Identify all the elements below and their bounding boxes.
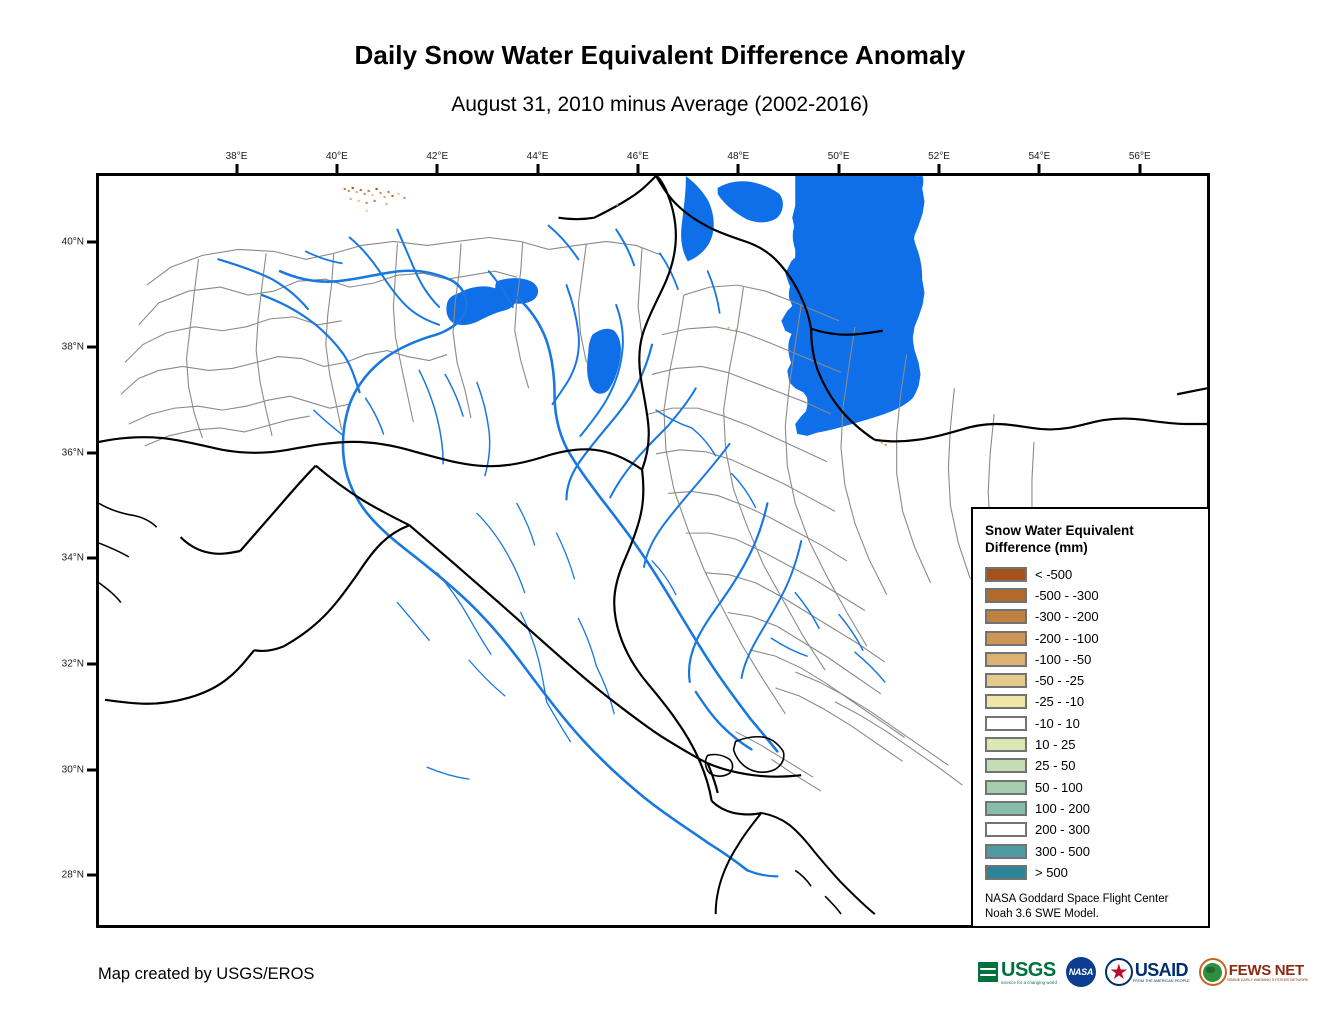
fews-globe-icon [1199, 958, 1227, 986]
legend-class-row: 200 - 300 [985, 819, 1198, 840]
legend-class-row: -50 - -25 [985, 670, 1198, 691]
longitude-tick [235, 164, 238, 173]
longitude-tick [1038, 164, 1041, 173]
longitude-label: 40°E [326, 151, 348, 162]
usgs-logo-tagline: science for a changing world [1001, 980, 1057, 985]
legend-class-row: -500 - -300 [985, 585, 1198, 606]
legend-class-label: 300 - 500 [1035, 844, 1090, 859]
usaid-seal-icon [1105, 958, 1133, 986]
longitude-tick [335, 164, 338, 173]
latitude-tick [87, 663, 96, 666]
legend-class-row: 300 - 500 [985, 840, 1198, 861]
nasa-logo[interactable]: NASA [1066, 956, 1096, 988]
longitude-label: 46°E [627, 151, 649, 162]
longitude-tick [1138, 164, 1141, 173]
longitude-label: 42°E [426, 151, 448, 162]
longitude-tick [636, 164, 639, 173]
legend-panel[interactable]: Snow Water Equivalent Difference (mm) < … [971, 507, 1210, 928]
fews-net-logo[interactable]: FEWS NET FAMINE EARLY WARNING SYSTEMS NE… [1199, 956, 1309, 988]
legend-class-label: -500 - -300 [1035, 588, 1099, 603]
coastlines [99, 503, 841, 914]
usgs-logo[interactable]: USGS science for a changing world [978, 956, 1057, 988]
latitude-label: 28°N [38, 870, 84, 881]
legend-swatch [985, 694, 1027, 709]
latitude-label: 32°N [38, 659, 84, 670]
longitude-label: 38°E [226, 151, 248, 162]
usgs-logo-text: USGS [1001, 960, 1057, 980]
legend-swatch [985, 844, 1027, 859]
longitude-label: 50°E [828, 151, 850, 162]
legend-class-label: 25 - 50 [1035, 758, 1075, 773]
legend-class-label: -50 - -25 [1035, 673, 1084, 688]
latitude-tick [87, 346, 96, 349]
legend-class-row: -100 - -50 [985, 649, 1198, 670]
usaid-logo[interactable]: USAID FROM THE AMERICAN PEOPLE [1105, 956, 1190, 988]
longitude-tick [938, 164, 941, 173]
legend-class-label: 200 - 300 [1035, 822, 1090, 837]
fews-logo-text: FEWS NET [1229, 963, 1309, 978]
legend-swatch [985, 780, 1027, 795]
latitude-tick [87, 451, 96, 454]
legend-class-row: > 500 [985, 862, 1198, 883]
longitude-tick [536, 164, 539, 173]
legend-class-label: -25 - -10 [1035, 694, 1084, 709]
legend-swatch [985, 652, 1027, 667]
usaid-logo-text: USAID [1135, 961, 1190, 979]
legend-swatch [985, 865, 1027, 880]
legend-class-row: 100 - 200 [985, 798, 1198, 819]
legend-source-note: NASA Goddard Space Flight Center Noah 3.… [985, 892, 1198, 922]
page-subtitle: August 31, 2010 minus Average (2002-2016… [0, 93, 1320, 117]
legend-class-label: -200 - -100 [1035, 631, 1099, 646]
legend-class-label: 100 - 200 [1035, 801, 1090, 816]
legend-class-list: < -500-500 - -300-300 - -200-200 - -100-… [985, 564, 1198, 883]
usaid-star-icon [1110, 964, 1127, 981]
latitude-tick [87, 557, 96, 560]
legend-swatch [985, 822, 1027, 837]
legend-swatch [985, 609, 1027, 624]
agency-logo-bar: USGS science for a changing world NASA U… [978, 952, 1308, 992]
legend-class-label: -10 - 10 [1035, 716, 1080, 731]
latitude-label: 34°N [38, 553, 84, 564]
legend-class-label: 50 - 100 [1035, 780, 1083, 795]
longitude-tick [737, 164, 740, 173]
legend-class-row: -200 - -100 [985, 627, 1198, 648]
fews-logo-tagline: FAMINE EARLY WARNING SYSTEMS NETWORK [1227, 978, 1309, 982]
legend-swatch [985, 758, 1027, 773]
legend-class-row: 25 - 50 [985, 755, 1198, 776]
latitude-tick [87, 240, 96, 243]
longitude-label: 44°E [527, 151, 549, 162]
legend-class-row: < -500 [985, 564, 1198, 585]
legend-swatch [985, 716, 1027, 731]
latitude-label: 38°N [38, 342, 84, 353]
latitude-label: 36°N [38, 447, 84, 458]
longitude-label: 54°E [1028, 151, 1050, 162]
legend-class-label: -300 - -200 [1035, 609, 1099, 624]
legend-class-row: 50 - 100 [985, 777, 1198, 798]
legend-class-label: > 500 [1035, 865, 1068, 880]
legend-class-row: 10 - 25 [985, 734, 1198, 755]
latitude-label: 30°N [38, 764, 84, 775]
legend-class-row: -300 - -200 [985, 606, 1198, 627]
fews-globe-inner-icon [1203, 963, 1222, 982]
legend-class-label: < -500 [1035, 567, 1072, 582]
nasa-meatball-icon: NASA [1066, 957, 1096, 987]
legend-swatch [985, 801, 1027, 816]
water-lake-urmia [587, 329, 621, 394]
legend-swatch [985, 567, 1027, 582]
legend-swatch [985, 737, 1027, 752]
latitude-label: 40°N [38, 236, 84, 247]
longitude-label: 52°E [928, 151, 950, 162]
page-title: Daily Snow Water Equivalent Difference A… [0, 40, 1320, 71]
latitude-tick [87, 768, 96, 771]
legend-title: Snow Water Equivalent Difference (mm) [985, 522, 1198, 557]
usgs-mark-icon [978, 962, 998, 982]
longitude-tick [837, 164, 840, 173]
legend-class-row: -10 - 10 [985, 713, 1198, 734]
legend-class-label: -100 - -50 [1035, 652, 1091, 667]
legend-class-label: 10 - 25 [1035, 737, 1075, 752]
legend-class-row: -25 - -10 [985, 691, 1198, 712]
legend-swatch [985, 673, 1027, 688]
longitude-tick [436, 164, 439, 173]
longitude-label: 56°E [1129, 151, 1151, 162]
legend-swatch [985, 588, 1027, 603]
latitude-tick [87, 874, 96, 877]
map-credit: Map created by USGS/EROS [98, 965, 314, 984]
longitude-label: 48°E [727, 151, 749, 162]
usaid-logo-tagline: FROM THE AMERICAN PEOPLE [1133, 979, 1190, 983]
legend-swatch [985, 631, 1027, 646]
